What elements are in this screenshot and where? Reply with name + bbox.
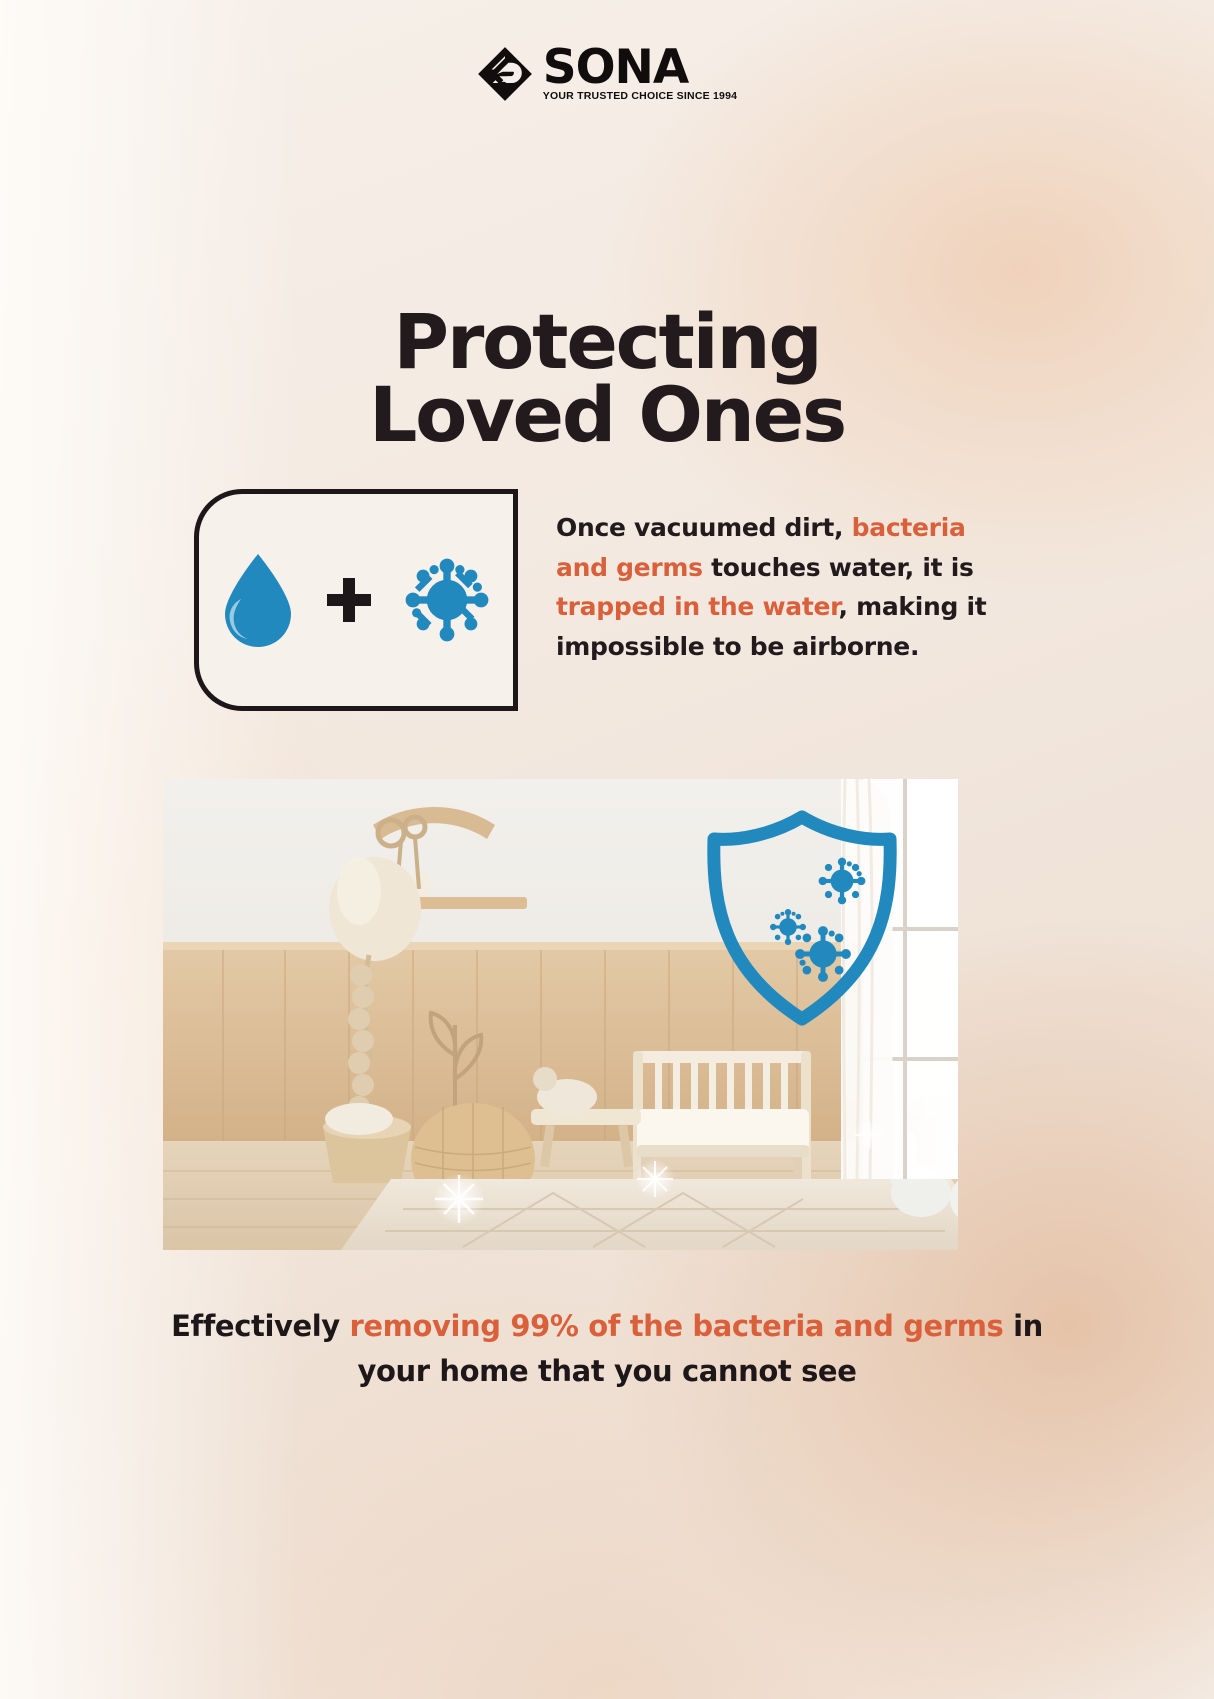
- poster-canvas: SONA YOUR TRUSTED CHOICE SINCE 1994 Prot…: [0, 0, 1214, 1699]
- brand-lockup: SONA YOUR TRUSTED CHOICE SINCE 1994: [543, 46, 737, 102]
- caption-seg-1: Effectively: [171, 1309, 349, 1343]
- para-seg-1: Once vacuumed dirt,: [556, 513, 852, 542]
- brand-tagline: YOUR TRUSTED CHOICE SINCE 1994: [543, 91, 737, 102]
- photo-caption: Effectively removing 99% of the bacteria…: [0, 1304, 1214, 1394]
- caption-highlight: removing 99% of the bacteria and germs: [350, 1309, 1004, 1343]
- water-drop-icon: [219, 552, 297, 648]
- para-seg-3: touches water, it is: [703, 553, 974, 582]
- nursery-photo-illustration: [163, 779, 958, 1250]
- water-plus-germ-card: [194, 489, 518, 711]
- nursery-photo: [163, 779, 958, 1250]
- brand-logo: SONA YOUR TRUSTED CHOICE SINCE 1994: [0, 46, 1214, 102]
- plus-icon: [323, 574, 375, 626]
- germ-icon: [401, 554, 493, 646]
- page-title: Protecting Loved Ones: [0, 306, 1214, 452]
- page-title-line2: Loved Ones: [120, 379, 1094, 452]
- sona-diamond-logo-icon: [477, 46, 533, 102]
- feature-paragraph: Once vacuumed dirt, bacteria and germs t…: [556, 508, 988, 666]
- para-highlight-2: trapped in the water: [556, 592, 839, 621]
- brand-name: SONA: [543, 46, 689, 89]
- feature-row: Once vacuumed dirt, bacteria and germs t…: [0, 489, 1214, 721]
